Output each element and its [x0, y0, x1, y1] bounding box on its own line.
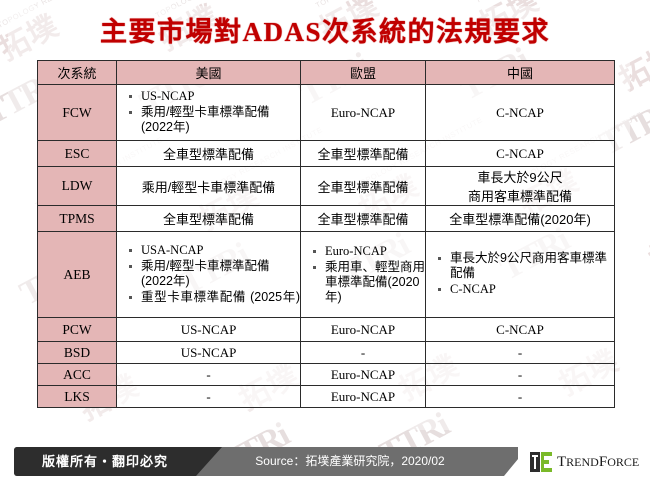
- table-row: TPMS 全車型標準配備 全車型標準配備 全車型標準配備(2020年): [38, 206, 615, 232]
- slide-root: 拓墣 TTRi TOPOLOGY RESEARCH INSTITUTE 拓墣 T…: [0, 0, 650, 485]
- table-row: FCW US-NCAP 乘用/輕型卡車標準配備 (2022年) Euro-NCA…: [38, 85, 615, 141]
- cell-ldw-cn: 車長大於9公尺 商用客車標準配備: [426, 167, 615, 206]
- row-label-tpms: TPMS: [38, 206, 117, 232]
- cell-acc-eu: Euro-NCAP: [301, 364, 426, 386]
- table-row: AEB USA-NCAP 乘用/輕型卡車標準配備 (2022年) 重型卡車標準配…: [38, 232, 615, 318]
- cell-lks-eu: Euro-NCAP: [301, 386, 426, 408]
- cell-bsd-us: US-NCAP: [117, 342, 301, 364]
- table-row: LKS - Euro-NCAP -: [38, 386, 615, 408]
- list-item: 車長大於9公尺商用客車標準配備: [436, 251, 614, 281]
- cell-esc-us: 全車型標準配備: [117, 141, 301, 167]
- row-label-aeb: AEB: [38, 232, 117, 318]
- footer-bar: 版權所有・翻印必究 Source：拓墣產業研究院，2020/02 TRENDFO…: [0, 438, 650, 485]
- cell-pcw-eu: Euro-NCAP: [301, 318, 426, 342]
- cell-bsd-eu: -: [301, 342, 426, 364]
- cell-esc-cn: C-NCAP: [426, 141, 615, 167]
- cell-fcw-us: US-NCAP 乘用/輕型卡車標準配備 (2022年): [117, 85, 301, 141]
- list-item: 乘用/輕型卡車標準配備 (2022年): [127, 105, 300, 135]
- list-item: 乘用/輕型卡車標準配備 (2022年): [127, 259, 300, 289]
- cell-pcw-us: US-NCAP: [117, 318, 301, 342]
- row-label-fcw: FCW: [38, 85, 117, 141]
- cell-acc-us: -: [117, 364, 301, 386]
- page-title: 主要市場對ADAS次系統的法規要求: [0, 16, 650, 48]
- table-row: BSD US-NCAP - -: [38, 342, 615, 364]
- trendforce-mark-icon: [530, 452, 552, 472]
- bullet-list: 車長大於9公尺商用客車標準配備 C-NCAP: [436, 251, 614, 297]
- bullet-list: US-NCAP 乘用/輕型卡車標準配備 (2022年): [127, 89, 300, 135]
- cell-lks-cn: -: [426, 386, 615, 408]
- list-item: USA-NCAP: [127, 243, 300, 258]
- cell-aeb-cn: 車長大於9公尺商用客車標準配備 C-NCAP: [426, 232, 615, 318]
- cell-lks-us: -: [117, 386, 301, 408]
- trendforce-logo: TRENDFORCE: [530, 450, 639, 474]
- regulation-table-wrapper: 次系統 美國 歐盟 中國 FCW US-NCAP 乘用/輕型卡車標準配備 (20…: [37, 60, 614, 408]
- wordmark-f: F: [599, 454, 607, 470]
- bullet-list: USA-NCAP 乘用/輕型卡車標準配備 (2022年) 重型卡車標準配備 (2…: [127, 243, 300, 305]
- wordmark-rend: REND: [566, 455, 599, 469]
- list-item: 重型卡車標準配備 (2025年): [127, 290, 300, 305]
- list-item: C-NCAP: [436, 282, 614, 297]
- table-row: PCW US-NCAP Euro-NCAP C-NCAP: [38, 318, 615, 342]
- cell-bsd-cn: -: [426, 342, 615, 364]
- list-item: Euro-NCAP: [311, 244, 425, 259]
- table-row: LDW 乘用/輕型卡車標準配備 全車型標準配備 車長大於9公尺 商用客車標準配備: [38, 167, 615, 206]
- cell-esc-eu: 全車型標準配備: [301, 141, 426, 167]
- watermark-cjk: 拓墣: [640, 211, 650, 279]
- column-header-us: 美國: [117, 61, 301, 85]
- column-header-eu: 歐盟: [301, 61, 426, 85]
- row-label-acc: ACC: [38, 364, 117, 386]
- cell-tpms-eu: 全車型標準配備: [301, 206, 426, 232]
- cell-ldw-eu: 全車型標準配備: [301, 167, 426, 206]
- copyright-notice: 版權所有・翻印必究: [14, 447, 196, 476]
- row-label-pcw: PCW: [38, 318, 117, 342]
- cell-pcw-cn: C-NCAP: [426, 318, 615, 342]
- trendforce-wordmark: TRENDFORCE: [557, 454, 639, 471]
- source-note: Source：拓墣產業研究院，2020/02: [200, 447, 500, 476]
- row-label-ldw: LDW: [38, 167, 117, 206]
- row-label-bsd: BSD: [38, 342, 117, 364]
- row-label-esc: ESC: [38, 141, 117, 167]
- bullet-list: Euro-NCAP 乘用車、輕型商用車標準配備(2020年): [311, 244, 425, 305]
- cell-fcw-eu: Euro-NCAP: [301, 85, 426, 141]
- cell-aeb-us: USA-NCAP 乘用/輕型卡車標準配備 (2022年) 重型卡車標準配備 (2…: [117, 232, 301, 318]
- column-header-subsystem: 次系統: [38, 61, 117, 85]
- list-item: US-NCAP: [127, 89, 300, 104]
- cell-line: 車長大於9公尺: [426, 167, 614, 186]
- cell-tpms-cn: 全車型標準配備(2020年): [426, 206, 615, 232]
- cell-ldw-us: 乘用/輕型卡車標準配備: [117, 167, 301, 206]
- cell-tpms-us: 全車型標準配備: [117, 206, 301, 232]
- footer-logo-slant: [504, 447, 528, 476]
- table-row: ESC 全車型標準配備 全車型標準配備 C-NCAP: [38, 141, 615, 167]
- regulation-table: 次系統 美國 歐盟 中國 FCW US-NCAP 乘用/輕型卡車標準配備 (20…: [37, 60, 615, 408]
- cell-acc-cn: -: [426, 364, 615, 386]
- cell-aeb-eu: Euro-NCAP 乘用車、輕型商用車標準配備(2020年): [301, 232, 426, 318]
- list-item: 乘用車、輕型商用車標準配備(2020年): [311, 260, 425, 305]
- cell-line: 商用客車標準配備: [426, 186, 614, 205]
- table-header-row: 次系統 美國 歐盟 中國: [38, 61, 615, 85]
- row-label-lks: LKS: [38, 386, 117, 408]
- watermark-tagline: TOPOLOGY RESEARCH INSTITUTE: [474, 0, 604, 5]
- cell-fcw-cn: C-NCAP: [426, 85, 615, 141]
- wordmark-t: T: [557, 454, 566, 470]
- wordmark-orce: ORCE: [607, 455, 639, 469]
- column-header-cn: 中國: [426, 61, 615, 85]
- table-row: ACC - Euro-NCAP -: [38, 364, 615, 386]
